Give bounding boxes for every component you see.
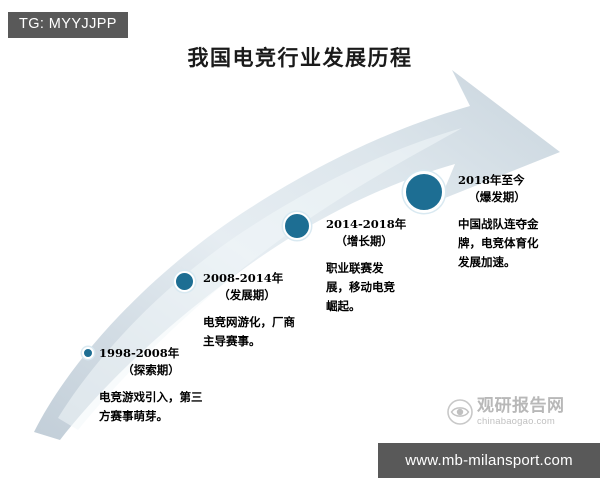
stage-1-phase: （探索期） <box>99 362 207 379</box>
stage-2-phase: （发展期） <box>203 287 295 304</box>
stage-1-description: 电竞游戏引入，第三方赛事萌芽。 <box>99 388 207 426</box>
timeline-stage-2: 2008-2014年 （发展期） 电竞网游化，厂商主导赛事。 <box>203 270 295 351</box>
stage-4-heading: 2018年至今 （爆发期） <box>458 172 540 206</box>
stage-2-description: 电竞网游化，厂商主导赛事。 <box>203 313 295 351</box>
timeline-stage-3: 2014-2018年 （增长期） 职业联赛发展，移动电竞崛起。 <box>326 216 406 316</box>
logo-text: 观研报告网 chinabaogao.com <box>477 398 565 427</box>
milestone-dot-1[interactable] <box>82 347 94 359</box>
stage-3-phase: （增长期） <box>326 233 406 250</box>
milestone-dot-2[interactable] <box>174 271 195 292</box>
stage-4-phase: （爆发期） <box>458 189 540 206</box>
stage-3-heading: 2014-2018年 （增长期） <box>326 216 406 250</box>
logo-domain: chinabaogao.com <box>477 417 565 427</box>
logo-name-cn: 观研报告网 <box>477 398 565 415</box>
timeline-stage-4: 2018年至今 （爆发期） 中国战队连夺金牌，电竞体育化发展加速。 <box>458 172 540 272</box>
stage-1-heading: 1998-2008年 （探索期） <box>99 345 207 379</box>
timeline-stage-1: 1998-2008年 （探索期） 电竞游戏引入，第三方赛事萌芽。 <box>99 345 207 426</box>
infographic-canvas: TG: MYYJJPP 我国电竞行业发展历程 <box>0 0 600 480</box>
stage-1-period: 1998-2008年 <box>99 346 179 360</box>
stage-3-period: 2014-2018年 <box>326 217 406 231</box>
eye-swirl-icon <box>447 399 473 425</box>
stage-4-period: 2018年至今 <box>458 173 525 187</box>
stage-2-period: 2008-2014年 <box>203 271 283 285</box>
stage-2-heading: 2008-2014年 （发展期） <box>203 270 295 304</box>
milestone-dot-4[interactable] <box>403 171 445 213</box>
site-logo: 观研报告网 chinabaogao.com <box>447 398 565 427</box>
milestone-dot-3[interactable] <box>283 212 311 240</box>
stage-4-description: 中国战队连夺金牌，电竞体育化发展加速。 <box>458 215 540 272</box>
stage-3-description: 职业联赛发展，移动电竞崛起。 <box>326 259 406 316</box>
bottom-watermark: www.mb-milansport.com <box>378 443 600 478</box>
